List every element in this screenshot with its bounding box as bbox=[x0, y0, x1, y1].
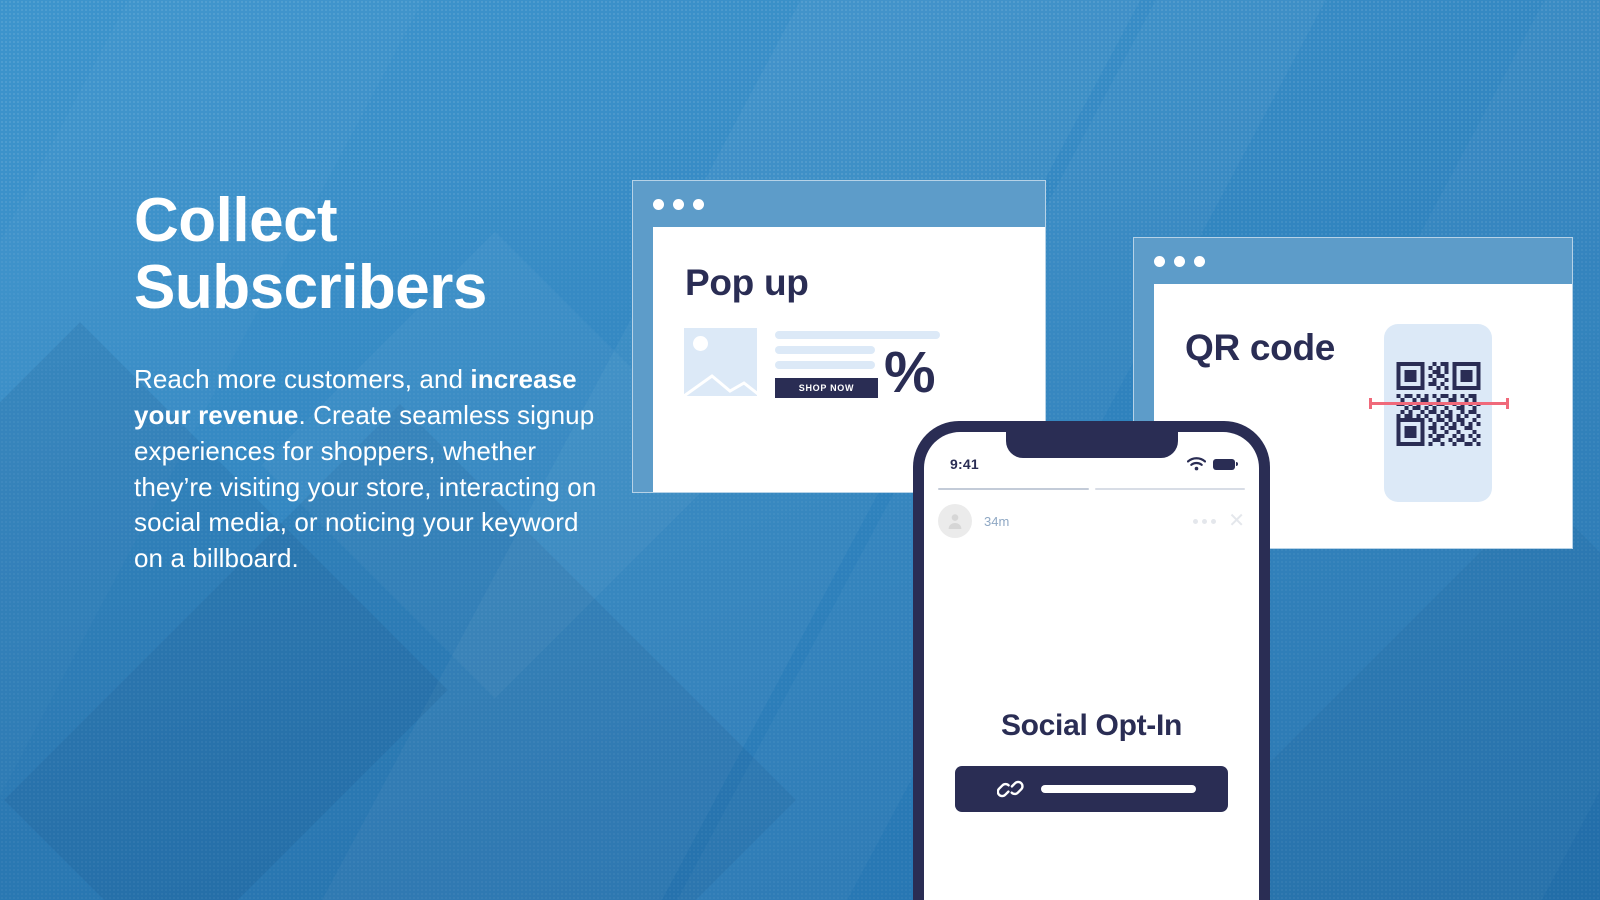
qr-window-titlebar bbox=[1134, 238, 1572, 284]
close-x-icon[interactable]: ✕ bbox=[1228, 511, 1245, 531]
page-title: Collect Subscribers bbox=[134, 188, 614, 322]
image-placeholder-icon bbox=[684, 328, 757, 396]
copy-block: Collect Subscribers Reach more customers… bbox=[134, 188, 614, 577]
window-dot-icon bbox=[1194, 256, 1205, 267]
story-timestamp: 34m bbox=[984, 514, 1009, 529]
story-actions: ✕ bbox=[1193, 511, 1245, 531]
popup-heading: Pop up bbox=[685, 262, 809, 304]
window-dot-icon bbox=[1154, 256, 1165, 267]
shop-now-button[interactable]: SHOP NOW bbox=[775, 378, 878, 398]
qr-heading: QR code bbox=[1185, 327, 1335, 369]
percent-symbol: % bbox=[884, 344, 936, 402]
story-progress-segment bbox=[1095, 488, 1246, 490]
phone-mockup: 9:41 bbox=[913, 421, 1270, 900]
wifi-icon bbox=[1187, 457, 1206, 471]
promo-banner: Collect Subscribers Reach more customers… bbox=[0, 0, 1600, 900]
text-line bbox=[775, 346, 875, 354]
window-dot-icon bbox=[693, 199, 704, 210]
placeholder-sun-icon bbox=[693, 336, 708, 351]
phone-status-bar: 9:41 bbox=[924, 432, 1259, 480]
text-line bbox=[775, 331, 940, 339]
text-line bbox=[775, 361, 875, 369]
qr-scan-line-icon bbox=[1369, 402, 1509, 405]
optin-input-line bbox=[1041, 785, 1196, 793]
status-time: 9:41 bbox=[950, 456, 979, 472]
body-lead: Reach more customers, and bbox=[134, 364, 470, 394]
window-dot-icon bbox=[673, 199, 684, 210]
link-chain-icon bbox=[997, 778, 1025, 800]
avatar-person-icon bbox=[946, 512, 964, 530]
battery-icon bbox=[1213, 459, 1235, 470]
window-dot-icon bbox=[653, 199, 664, 210]
story-progress-segment bbox=[938, 488, 1089, 490]
user-avatar-icon[interactable] bbox=[938, 504, 972, 538]
phone-screen: 9:41 bbox=[924, 432, 1259, 900]
kebab-menu-icon[interactable] bbox=[1193, 519, 1216, 524]
social-optin-heading: Social Opt-In bbox=[924, 709, 1259, 743]
story-header: 34m ✕ bbox=[938, 504, 1245, 538]
status-icons bbox=[1187, 457, 1235, 471]
popup-window-titlebar bbox=[633, 181, 1045, 227]
placeholder-mountain-icon bbox=[684, 364, 757, 396]
story-progress-bar bbox=[938, 488, 1245, 490]
social-optin-link-field[interactable] bbox=[955, 766, 1228, 812]
window-dot-icon bbox=[1174, 256, 1185, 267]
body-paragraph: Reach more customers, and increase your … bbox=[134, 362, 614, 577]
